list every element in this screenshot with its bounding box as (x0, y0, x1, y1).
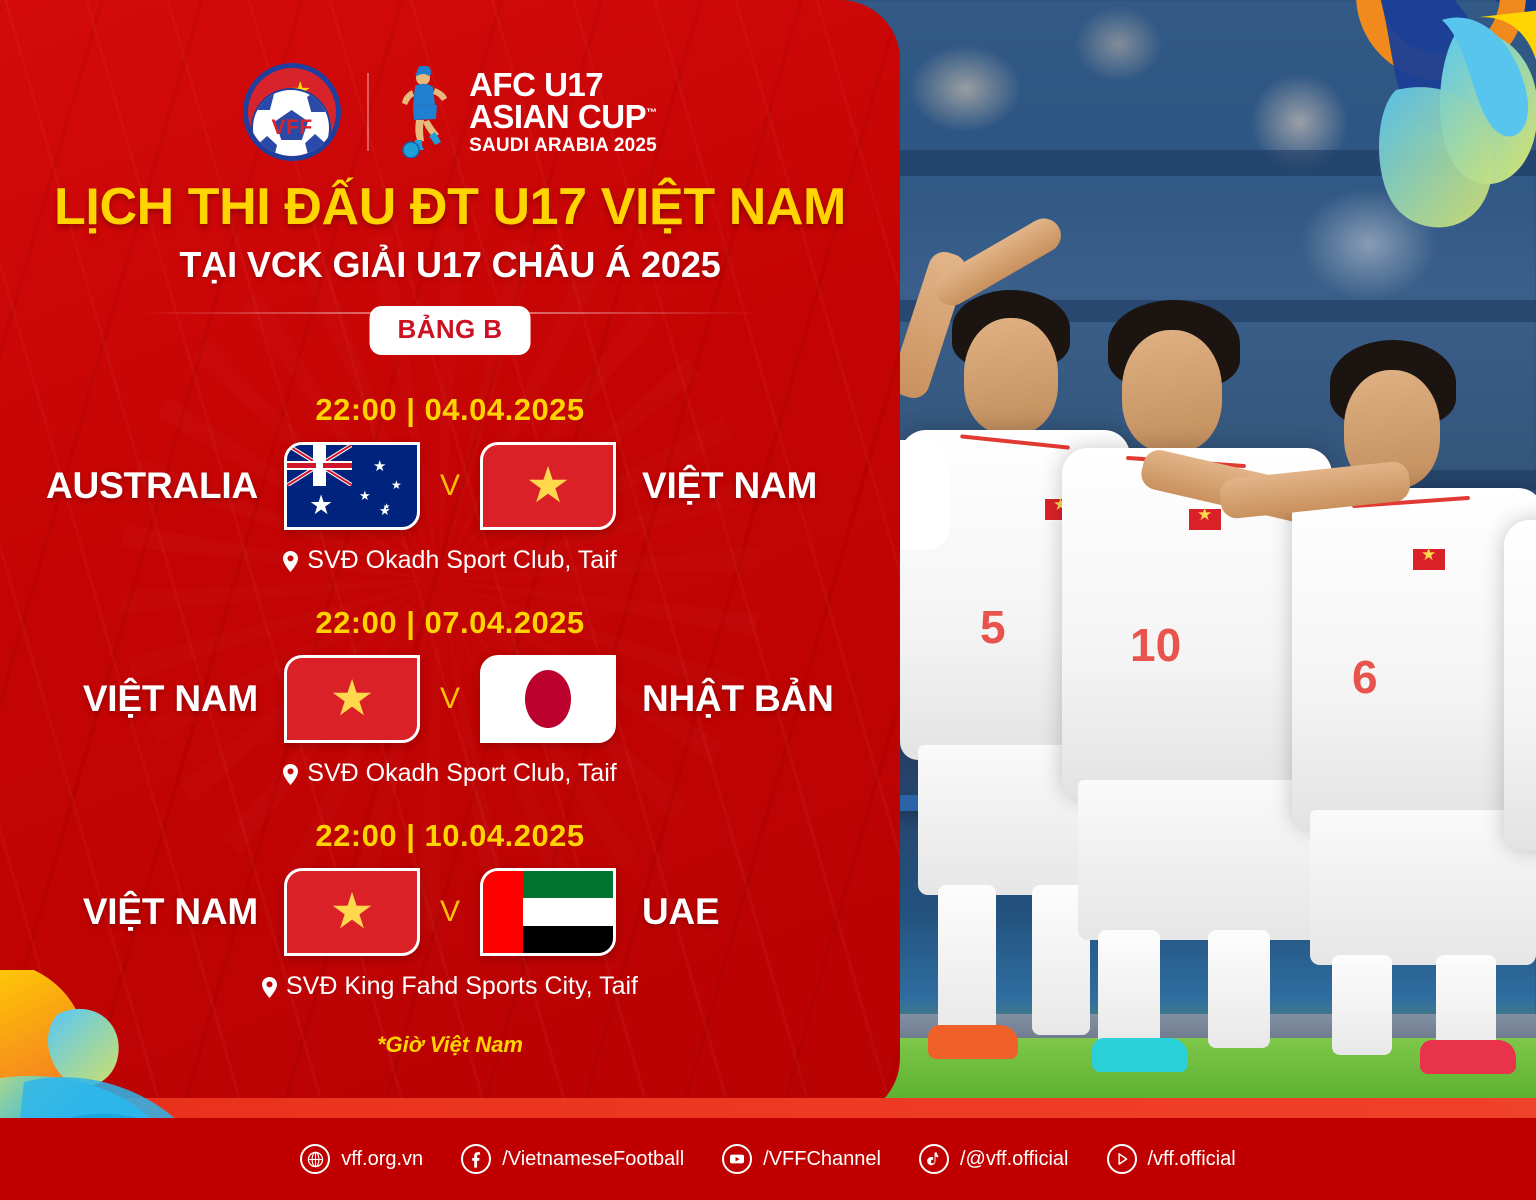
away-team-name: VIỆT NAM (616, 465, 866, 507)
match-datetime: 22:00 | 04.04.2025 (0, 392, 900, 428)
social-label: /vff.official (1148, 1148, 1236, 1171)
page-subtitle: TẠI VCK GIẢI U17 CHÂU Á 2025 (0, 244, 900, 286)
versus-separator: V (420, 682, 480, 716)
match-row: 22:00 | 04.04.2025 AUSTRALIA ★ ★ ★ ★ (0, 392, 900, 575)
timezone-note: *Giờ Việt Nam (0, 1032, 900, 1058)
match-row: 22:00 | 07.04.2025 VIỆT NAM ★ V NHẬT BẢN… (0, 605, 900, 788)
facebook-icon (461, 1144, 491, 1174)
social-link-youtube[interactable]: /VFFChannel (722, 1144, 881, 1174)
afc-title-line1: AFC U17 (469, 69, 657, 101)
afc-title-line2: ASIAN CUP (469, 98, 646, 135)
home-team-name: AUSTRALIA (34, 465, 284, 507)
social-link-website[interactable]: vff.org.vn (300, 1144, 423, 1174)
match-venue: SVĐ King Fahd Sports City, Taif (0, 972, 900, 1001)
yellow-star-icon: ★ (330, 886, 375, 936)
away-team-name: NHẬT BẢN (616, 678, 866, 720)
group-row: BẢNG B (0, 306, 900, 354)
commonwealth-star: ★ (309, 492, 333, 519)
social-label: /VFFChannel (763, 1148, 881, 1171)
tiktok-icon (919, 1144, 949, 1174)
vietnam-flag: ★ (284, 868, 420, 956)
location-pin-icon (262, 977, 277, 998)
japan-flag (480, 655, 616, 743)
home-team-name: VIỆT NAM (34, 891, 284, 933)
social-link-play[interactable]: /vff.official (1107, 1144, 1236, 1174)
page-title: LỊCH THI ĐẤU ĐT U17 VIỆT NAM (0, 180, 900, 235)
away-team-name: UAE (616, 891, 866, 933)
venue-text: SVĐ King Fahd Sports City, Taif (286, 972, 638, 1000)
title-block: LỊCH THI ĐẤU ĐT U17 VIỆT NAM TẠI VCK GIẢ… (0, 180, 900, 286)
social-footer: vff.org.vn /VietnameseFootball /VFFChann… (0, 1118, 1536, 1200)
afc-host-line: SAUDI ARABIA 2025 (469, 137, 657, 156)
play-icon (1107, 1144, 1137, 1174)
header: ★ VFF (0, 52, 900, 354)
youtube-icon (722, 1144, 752, 1174)
home-team-name: VIỆT NAM (34, 678, 284, 720)
match-datetime: 22:00 | 10.04.2025 (0, 818, 900, 854)
venue-text: SVĐ Okadh Sport Club, Taif (307, 759, 616, 787)
vff-logo: ★ VFF (243, 63, 341, 161)
vietnam-flag: ★ (284, 655, 420, 743)
uae-flag (480, 868, 616, 956)
match-row: 22:00 | 10.04.2025 VIỆT NAM ★ V UAE SVĐ … (0, 818, 900, 1001)
afc-logo: AFC U17 ASIAN CUP™ SAUDI ARABIA 2025 (395, 66, 657, 158)
social-label: /VietnameseFootball (502, 1148, 684, 1171)
social-label: vff.org.vn (341, 1148, 423, 1171)
logo-row: ★ VFF (0, 52, 900, 172)
group-badge: BẢNG B (370, 306, 531, 355)
match-venue: SVĐ Okadh Sport Club, Taif (0, 759, 900, 788)
stand-bar (840, 150, 1536, 176)
vff-logo-text: VFF (248, 116, 336, 140)
logo-divider (367, 73, 369, 151)
social-link-facebook[interactable]: /VietnameseFootball (461, 1144, 684, 1174)
yellow-star-icon: ★ (526, 460, 571, 510)
location-pin-icon (283, 764, 298, 785)
afc-footballer-icon (395, 66, 455, 158)
social-label: /@vff.official (960, 1148, 1069, 1171)
match-datetime: 22:00 | 07.04.2025 (0, 605, 900, 641)
celebration-photo: 5 10 6 (840, 0, 1536, 1110)
match-venue: SVĐ Okadh Sport Club, Taif (0, 546, 900, 575)
social-link-tiktok[interactable]: /@vff.official (919, 1144, 1069, 1174)
versus-separator: V (420, 895, 480, 929)
accent-stripe (0, 1098, 1536, 1118)
vietnam-flag: ★ (480, 442, 616, 530)
match-list: 22:00 | 04.04.2025 AUSTRALIA ★ ★ ★ ★ (0, 392, 900, 1009)
trademark-symbol: ™ (646, 107, 657, 119)
rising-sun-disc (525, 670, 571, 728)
location-pin-icon (283, 551, 298, 572)
yellow-star-icon: ★ (330, 673, 375, 723)
versus-separator: V (420, 469, 480, 503)
globe-icon (300, 1144, 330, 1174)
venue-text: SVĐ Okadh Sport Club, Taif (307, 546, 616, 574)
australia-flag: ★ ★ ★ ★ ★ ★ (284, 442, 420, 530)
